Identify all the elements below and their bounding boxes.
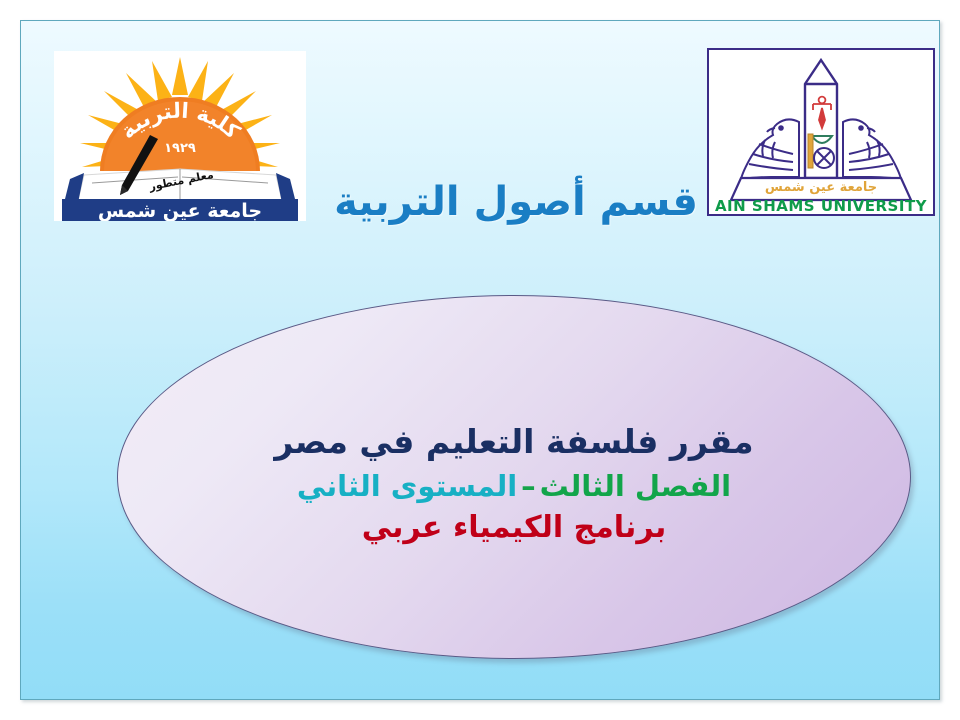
level-and-term-line: الفصل الثالث–المستوى الثاني: [204, 466, 824, 507]
separator-dash: –: [517, 469, 540, 503]
founding-year: ١٩٢٩: [164, 141, 196, 156]
asu-arabic-name: جامعة عين شمس: [765, 180, 877, 195]
course-title-line: مقرر فلسفة التعليم في مصر: [204, 419, 824, 466]
asu-english-name: AIN SHAMS UNIVERSITY: [715, 197, 928, 215]
term-label: الفصل الثالث: [540, 469, 731, 503]
presentation-slide: كلية التربية ١٩٢٩ جامعة عين شمس: [0, 0, 960, 720]
university-name-arabic: جامعة عين شمس: [98, 200, 262, 221]
content-oval: مقرر فلسفة التعليم في مصر الفصل الثالث–ا…: [117, 295, 911, 659]
page-title: قسم أصول التربية: [321, 179, 711, 225]
faculty-of-education-logo: كلية التربية ١٩٢٩ جامعة عين شمس: [54, 51, 306, 221]
ain-shams-university-logo: جامعة عين شمس AIN SHAMS UNIVERSITY: [707, 48, 935, 216]
oval-text-block: مقرر فلسفة التعليم في مصر الفصل الثالث–ا…: [204, 419, 824, 550]
program-name-line: برنامج الكيمياء عربي: [204, 507, 824, 550]
level-label: المستوى الثاني: [297, 469, 517, 503]
slide-canvas: كلية التربية ١٩٢٩ جامعة عين شمس: [20, 20, 940, 700]
